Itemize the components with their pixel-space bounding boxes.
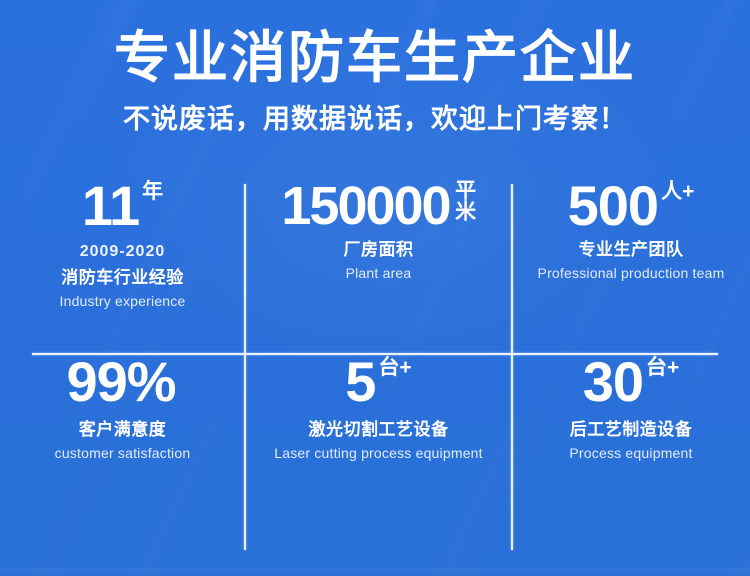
- stat-cell-plant-area: 150000 平米 厂房面积 Plant area: [245, 178, 512, 354]
- divider-vertical-right: [511, 184, 513, 550]
- stat-label-cn: 后工艺制造设备: [570, 419, 693, 441]
- stat-number: 30: [583, 354, 643, 410]
- stat-label-en: Professional production team: [538, 264, 725, 283]
- stat-cell-customer-satisfaction: 99% 客户满意度 customer satisfaction: [0, 354, 245, 554]
- stat-number: 11: [82, 178, 139, 234]
- stat-number-line: 150000 平米: [281, 178, 475, 234]
- stat-number-line: 99%: [66, 354, 178, 410]
- stats-grid: 11 年 2009-2020 消防车行业经验 Industry experien…: [0, 178, 750, 554]
- stat-cell-laser-cutting-equipment: 5 台+ 激光切割工艺设备 Laser cutting process equi…: [245, 354, 512, 554]
- stat-cell-process-equipment: 30 台+ 后工艺制造设备 Process equipment: [512, 354, 750, 554]
- stat-number: 99%: [66, 354, 175, 410]
- stat-number-line: 5 台+: [345, 354, 411, 410]
- subheadline: 不说废话，用数据说话，欢迎上门考察！: [0, 102, 750, 136]
- stat-unit: 人+: [661, 180, 694, 203]
- promo-banner: 专业消防车生产企业 不说废话，用数据说话，欢迎上门考察！ 11 年 2009-2…: [0, 0, 750, 576]
- stat-label-cn: 厂房面积: [344, 239, 414, 261]
- stat-number: 5: [345, 354, 375, 410]
- divider-vertical-left: [244, 184, 246, 550]
- stat-label-cn: 专业生产团队: [579, 239, 684, 261]
- stat-cell-production-team: 500 人+ 专业生产团队 Professional production te…: [512, 178, 750, 354]
- stat-label-cn: 客户满意度: [79, 419, 167, 441]
- stat-unit: 平米: [453, 179, 476, 221]
- stat-number-line: 11 年: [82, 178, 163, 234]
- stat-number: 500: [568, 178, 658, 234]
- banner-header: 专业消防车生产企业 不说废话，用数据说话，欢迎上门考察！: [0, 26, 750, 136]
- stat-number: 150000: [281, 178, 449, 234]
- stat-number-line: 30 台+: [583, 354, 680, 410]
- stat-cell-industry-experience: 11 年 2009-2020 消防车行业经验 Industry experien…: [0, 178, 245, 354]
- headline: 专业消防车生产企业: [0, 26, 750, 90]
- stat-label-cn: 激光切割工艺设备: [309, 419, 449, 441]
- stat-label-cn: 消防车行业经验: [61, 267, 184, 289]
- stat-unit: 年: [142, 180, 163, 203]
- stat-label-en: Laser cutting process equipment: [274, 444, 483, 463]
- bottom-edge-band: [0, 568, 750, 576]
- stat-label-en: customer satisfaction: [55, 444, 191, 463]
- divider-horizontal: [32, 353, 718, 355]
- stat-unit: 台+: [646, 356, 679, 379]
- stat-number-line: 500 人+: [568, 178, 695, 234]
- stat-label-en: Process equipment: [569, 444, 692, 463]
- stat-unit: 台+: [378, 356, 411, 379]
- stat-label-en: Plant area: [346, 264, 412, 283]
- stat-year-range: 2009-2020: [80, 242, 166, 262]
- stat-label-en: Industry experience: [60, 292, 186, 311]
